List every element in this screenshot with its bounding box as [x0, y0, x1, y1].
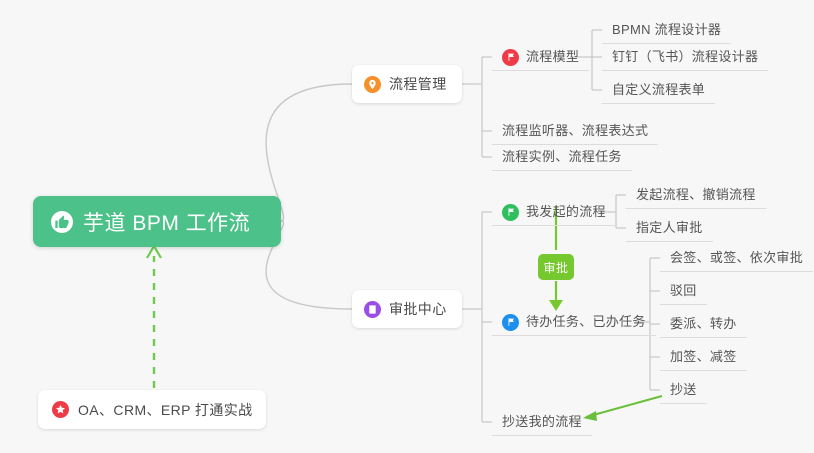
node-bpmn-designer[interactable]: BPMN 流程设计器	[602, 17, 731, 44]
node-custom-form[interactable]: 自定义流程表单	[602, 77, 715, 104]
branch-node-approval-center[interactable]: 审批中心	[352, 290, 462, 328]
node-cc-to-me-process[interactable]: 抄送我的流程	[492, 409, 592, 436]
flag-icon	[502, 204, 519, 221]
star-icon	[52, 401, 69, 418]
node-process-model-label: 流程模型	[526, 44, 579, 70]
node-delegate-transfer[interactable]: 委派、转办	[660, 311, 747, 338]
branch-node-flow-management-label: 流程管理	[389, 74, 447, 94]
location-pin-icon	[364, 76, 381, 93]
approve-highlight-tag: 审批	[538, 254, 574, 280]
node-my-started-process-label: 我发起的流程	[526, 199, 606, 225]
clipboard-icon	[364, 301, 381, 318]
node-dingtalk-feishu-designer[interactable]: 钉钉（飞书）流程设计器	[602, 44, 768, 71]
flag-icon	[502, 314, 519, 331]
node-assignee-approval[interactable]: 指定人审批	[626, 215, 713, 242]
root-node-label: 芋道 BPM 工作流	[83, 207, 250, 237]
node-reject[interactable]: 驳回	[660, 278, 707, 305]
root-node[interactable]: 芋道 BPM 工作流	[33, 196, 281, 247]
node-carbon-copy[interactable]: 抄送	[660, 377, 707, 404]
node-todo-done-tasks[interactable]: 待办任务、已办任务	[492, 309, 656, 336]
node-start-cancel-process[interactable]: 发起流程、撤销流程	[626, 182, 766, 209]
node-my-started-process[interactable]: 我发起的流程	[492, 199, 616, 226]
node-process-model[interactable]: 流程模型	[492, 44, 589, 71]
node-countersign-approval[interactable]: 会签、或签、依次审批	[660, 245, 813, 272]
mindmap-canvas: 芋道 BPM 工作流 流程管理 流程模型 流程监听器、流程表达式 流程实例、流程…	[0, 0, 814, 453]
thumbs-up-icon	[51, 211, 73, 233]
node-todo-done-tasks-label: 待办任务、已办任务	[526, 309, 646, 335]
node-add-remove-sign[interactable]: 加签、减签	[660, 344, 747, 371]
node-listener-expression[interactable]: 流程监听器、流程表达式	[492, 118, 658, 145]
branch-node-flow-management[interactable]: 流程管理	[352, 65, 462, 103]
branch-node-approval-center-label: 审批中心	[389, 299, 447, 319]
integration-note-card[interactable]: OA、CRM、ERP 打通实战	[38, 390, 266, 429]
flag-icon	[502, 49, 519, 66]
integration-note-label: OA、CRM、ERP 打通实战	[78, 400, 253, 420]
node-instance-task[interactable]: 流程实例、流程任务	[492, 144, 632, 171]
